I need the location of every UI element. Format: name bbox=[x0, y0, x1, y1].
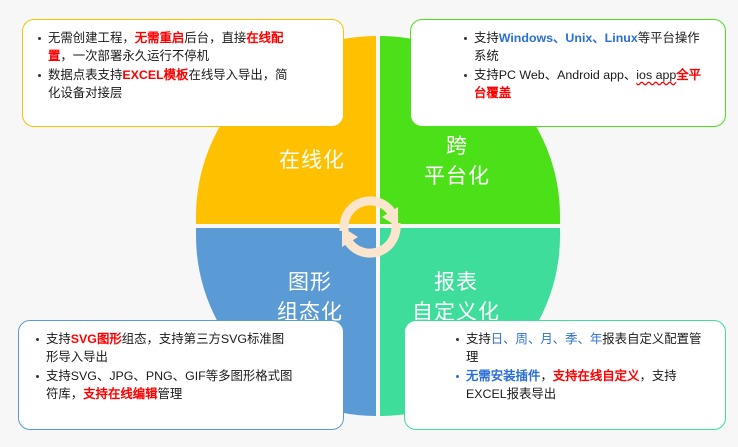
text-run: 支持在线自定义 bbox=[553, 369, 640, 383]
list-item: 支持日、周、月、季、年报表自定义配置管理 bbox=[455, 330, 711, 366]
list-item: 支持SVG图形组态，支持第三方SVG标准图形导入导出 bbox=[35, 330, 293, 366]
refresh-arrows-svg bbox=[336, 193, 404, 261]
callout-top-left-list: 无需创建工程，无需重启后台，直接在线配置，一次部署永久运行不停机 数据点表支持E… bbox=[37, 29, 289, 102]
quadrant-label-cross-platform: 跨 平台化 bbox=[392, 132, 522, 192]
text-run: EXCEL模板 bbox=[122, 68, 188, 82]
quadrant-graphics-line1: 图形 bbox=[288, 271, 332, 294]
quadrant-label-online: 在线化 bbox=[252, 146, 372, 176]
list-item: 支持Windows、Unix、Linux等平台操作系统 bbox=[463, 29, 711, 65]
refresh-arrow-top-right bbox=[340, 201, 399, 231]
list-item: 支持PC Web、Android app、ios app全平台覆盖 bbox=[463, 66, 711, 102]
callout-top-right-list: 支持Windows、Unix、Linux等平台操作系统 支持PC Web、And… bbox=[463, 29, 711, 102]
quadrant-online-line1: 在线化 bbox=[279, 149, 345, 172]
quadrant-cross-platform-line2: 平台化 bbox=[392, 162, 522, 192]
text-run: Windows、Unix、Linux bbox=[499, 31, 638, 45]
text-run: ，一次部署永久运行不停机 bbox=[60, 49, 209, 63]
callout-bottom-right[interactable]: 支持日、周、月、季、年报表自定义配置管理 无需安装插件，支持在线自定义，支持EX… bbox=[404, 320, 726, 430]
text-run: 支持 bbox=[46, 332, 71, 346]
infographic-canvas: 在线化 跨 平台化 图形 组态化 报表 自定义化 bbox=[0, 0, 738, 447]
circular-refresh-arrows-icon bbox=[336, 193, 404, 261]
text-run: 管理 bbox=[158, 387, 183, 401]
text-run: 无需重启 bbox=[135, 31, 185, 45]
quadrant-label-report: 报表 自定义化 bbox=[388, 268, 524, 328]
list-item: 无需创建工程，无需重启后台，直接在线配置，一次部署永久运行不停机 bbox=[37, 29, 289, 65]
quadrant-label-graphics: 图形 组态化 bbox=[248, 268, 372, 328]
text-run: ios app bbox=[636, 68, 676, 82]
text-run: ， bbox=[540, 369, 552, 383]
list-item: 支持SVG、JPG、PNG、GIF等多图形格式图符库，支持在线编辑管理 bbox=[35, 367, 293, 403]
callout-top-left[interactable]: 无需创建工程，无需重启后台，直接在线配置，一次部署永久运行不停机 数据点表支持E… bbox=[22, 19, 344, 127]
text-run: 支持 bbox=[466, 332, 491, 346]
refresh-arrow-bottom-left bbox=[342, 223, 401, 253]
quadrant-report-line1: 报表 bbox=[434, 271, 478, 294]
text-run: 支持 bbox=[474, 31, 499, 45]
text-run: 支持在线编辑 bbox=[83, 387, 157, 401]
callout-bottom-left-list: 支持SVG图形组态，支持第三方SVG标准图形导入导出 支持SVG、JPG、PNG… bbox=[35, 330, 293, 403]
callout-bottom-right-text: 支持日、周、月、季、年报表自定义配置管理 无需安装插件，支持在线自定义，支持EX… bbox=[455, 330, 711, 404]
list-item: 无需安装插件，支持在线自定义，支持EXCEL报表导出 bbox=[455, 367, 711, 403]
text-run: 数据点表支持 bbox=[48, 68, 122, 82]
text-run: 日、周、月、季、年 bbox=[491, 332, 603, 346]
text-run: 后台，直接 bbox=[184, 31, 246, 45]
quadrant-cross-platform-line1: 跨 bbox=[446, 135, 468, 158]
text-run: 支持PC Web、Android app、 bbox=[474, 68, 636, 82]
callout-bottom-left[interactable]: 支持SVG图形组态，支持第三方SVG标准图形导入导出 支持SVG、JPG、PNG… bbox=[18, 320, 344, 430]
text-run: 无需创建工程， bbox=[48, 31, 135, 45]
text-run: 无需安装插件 bbox=[466, 369, 540, 383]
callout-top-left-text: 无需创建工程，无需重启后台，直接在线配置，一次部署永久运行不停机 数据点表支持E… bbox=[37, 29, 289, 103]
callout-top-right-text: 支持Windows、Unix、Linux等平台操作系统 支持PC Web、And… bbox=[463, 29, 711, 103]
list-item: 数据点表支持EXCEL模板在线导入导出，简化设备对接层 bbox=[37, 66, 289, 102]
callout-bottom-right-list: 支持日、周、月、季、年报表自定义配置管理 无需安装插件，支持在线自定义，支持EX… bbox=[455, 330, 711, 403]
text-run: SVG图形 bbox=[71, 332, 122, 346]
callout-bottom-left-text: 支持SVG图形组态，支持第三方SVG标准图形导入导出 支持SVG、JPG、PNG… bbox=[35, 330, 293, 404]
callout-top-right[interactable]: 支持Windows、Unix、Linux等平台操作系统 支持PC Web、And… bbox=[410, 19, 726, 127]
